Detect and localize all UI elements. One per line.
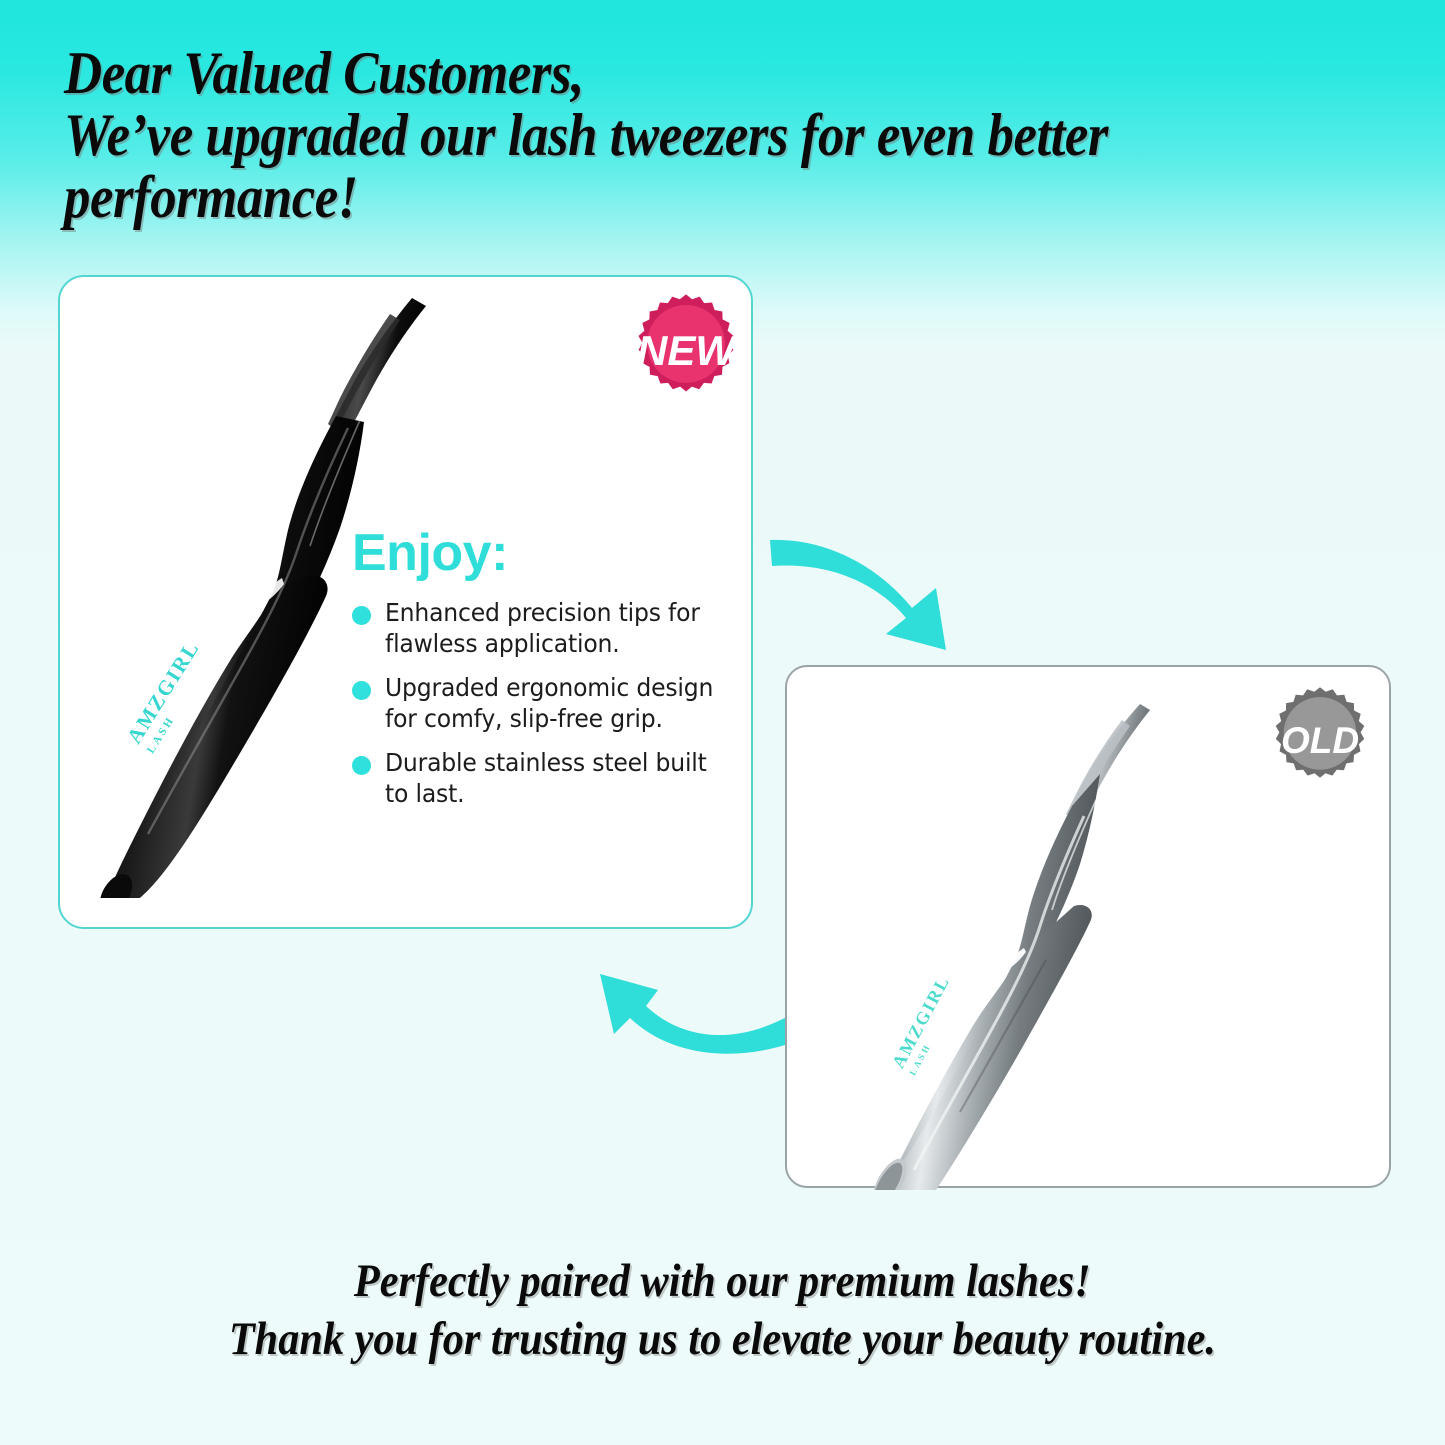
promo-poster: Dear Valued Customers, We’ve upgraded ou… [0, 0, 1445, 1445]
old-tweezer-image [840, 690, 1240, 1195]
benefit-item: Upgraded ergonomic design for comfy, sli… [352, 672, 742, 734]
benefit-text: Enhanced precision tips for flawless app… [385, 597, 721, 659]
bullet-dot-icon [352, 681, 371, 700]
arrow-new-to-old-icon [766, 522, 966, 657]
headline-line-2: We’ve upgraded our lash tweezers for eve… [64, 104, 1234, 166]
bullet-dot-icon [352, 606, 371, 625]
benefits-block: Enjoy: Enhanced precision tips for flawl… [352, 525, 742, 822]
bullet-dot-icon [352, 756, 371, 775]
arrow-old-to-new-icon [596, 950, 796, 1070]
old-badge-label: OLD [1281, 722, 1359, 759]
benefit-item: Durable stainless steel built to last. [352, 747, 742, 809]
page-footer: Perfectly paired with our premium lashes… [0, 1252, 1445, 1368]
old-badge: OLD [1265, 685, 1375, 795]
page-headline: Dear Valued Customers, We’ve upgraded ou… [64, 42, 1234, 228]
benefit-item: Enhanced precision tips for flawless app… [352, 597, 742, 659]
footer-line-1: Perfectly paired with our premium lashes… [0, 1252, 1445, 1310]
enjoy-title: Enjoy: [352, 525, 742, 581]
footer-line-2: Thank you for trusting us to elevate you… [0, 1310, 1445, 1368]
headline-line-3: performance! [64, 166, 1234, 228]
new-badge-label: NEW [637, 330, 735, 372]
benefit-text: Upgraded ergonomic design for comfy, sli… [385, 672, 721, 734]
new-badge: NEW [627, 292, 745, 410]
benefit-text: Durable stainless steel built to last. [385, 747, 721, 809]
headline-line-1: Dear Valued Customers, [64, 42, 1234, 104]
